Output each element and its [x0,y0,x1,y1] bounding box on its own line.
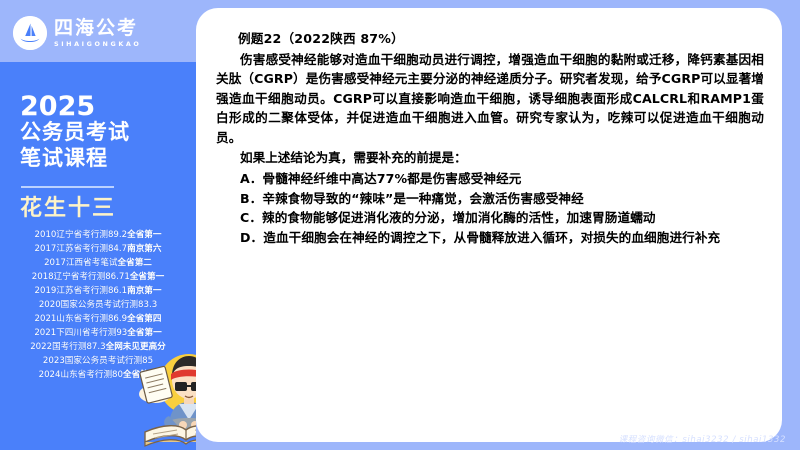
credential-rank: 全网未见更高分 [106,343,166,352]
sailboat-circle-icon [13,16,47,50]
credential-item: 2018辽宁省考行测86.71全省第一 [0,270,196,284]
credential-text: 2021下四川省考行测93 [34,329,127,338]
credential-text: 2019江苏省考行测86.1 [35,287,128,296]
credential-text: 2021山东省考行测86.9 [35,315,128,324]
brand-logo-text: 四海公考 SIHAIGONGKAO [54,19,141,47]
content-panel: 例题22（2022陕西 87%） 伤害感受神经能够对造血干细胞动员进行调控，增强… [196,8,782,442]
credential-item: 2017江苏省考行测84.7南京第六 [0,242,196,256]
course-title-line2: 笔试课程 [20,148,108,169]
credential-text: 2010辽宁省考行测89.2 [35,231,128,240]
question-title: 例题22（2022陕西 87%） [238,30,764,49]
credential-list: 2010辽宁省考行测89.2全省第一2017江苏省考行测84.7南京第六2017… [0,228,196,382]
brand-name-en: SIHAIGONGKAO [54,41,141,47]
course-title-line1: 公务员考试 [20,122,130,143]
credential-rank: 全省第一 [130,273,164,282]
question-paragraph: 伤害感受神经能够对造血干细胞动员进行调控，增强造血干细胞的黏附或迁移，降钙素基因… [216,50,764,148]
slide-canvas: 四海公考 SIHAIGONGKAO 2025 公务员考试 笔试课程 花生十三 2… [0,0,800,450]
contact-watermark: 课程咨询微信：sihai3232 / sihai1332 [619,433,786,445]
credential-rank: 全省第四 [127,315,161,324]
option-item: B．辛辣食物导致的“辣味”是一种痛觉，会激活伤害感受神经 [216,189,764,209]
credential-item: 2021山东省考行测86.9全省第四 [0,312,196,326]
credential-text: 2024山东省考行测80 [39,371,123,380]
sidebar: 四海公考 SIHAIGONGKAO 2025 公务员考试 笔试课程 花生十三 2… [0,0,196,450]
credential-rank: 全省第二 [118,259,152,268]
credential-item: 2019江苏省考行测86.1南京第一 [0,284,196,298]
credential-rank: 全省第一 [127,231,161,240]
teacher-name: 花生十三 [20,198,116,220]
credential-rank: 全省第一 [127,329,161,338]
sidebar-divider [21,186,114,188]
credential-item: 2024山东省考行测80全省第一 [0,368,196,382]
credential-item: 2023国家公务员考试行测85 [0,354,196,368]
credential-text: 2022国考行测87.3 [30,343,105,352]
credential-item: 2010辽宁省考行测89.2全省第一 [0,228,196,242]
credential-text: 2020国家公务员考试行测83.3 [39,301,157,310]
brand-name-cn: 四海公考 [54,19,141,39]
course-year: 2025 [20,93,95,120]
question-prompt: 如果上述结论为真，需要补充的前提是： [216,148,764,168]
option-item: A．骨髓神经纤维中高达77%都是伤害感受神经元 [216,169,764,189]
credential-text: 2023国家公务员考试行测85 [43,357,153,366]
option-item: C．辣的食物能够促进消化液的分泌，增加消化酶的活性，加速胃肠道蠕动 [216,208,764,228]
credential-rank: 南京第一 [127,287,161,296]
question-paragraph-text: 伤害感受神经能够对造血干细胞动员进行调控，增强造血干细胞的黏附或迁移，降钙素基因… [216,50,764,148]
option-item: D．造血干细胞会在神经的调控之下，从骨髓释放进入循环，对损失的血细胞进行补充 [216,228,764,248]
credential-item: 2022国考行测87.3全网未见更高分 [0,340,196,354]
option-list: A．骨髓神经纤维中高达77%都是伤害感受神经元B．辛辣食物导致的“辣味”是一种痛… [216,169,764,247]
credential-rank: 南京第六 [127,245,161,254]
credential-item: 2020国家公务员考试行测83.3 [0,298,196,312]
brand-logo: 四海公考 SIHAIGONGKAO [13,11,141,55]
credential-text: 2017江苏省考行测84.7 [35,245,128,254]
credential-item: 2017江西省考笔试全省第二 [0,256,196,270]
credential-rank: 全省第一 [123,371,157,380]
credential-item: 2021下四川省考行测93全省第一 [0,326,196,340]
credential-text: 2017江西省考笔试 [44,259,117,268]
credential-text: 2018辽宁省考行测86.71 [32,273,130,282]
